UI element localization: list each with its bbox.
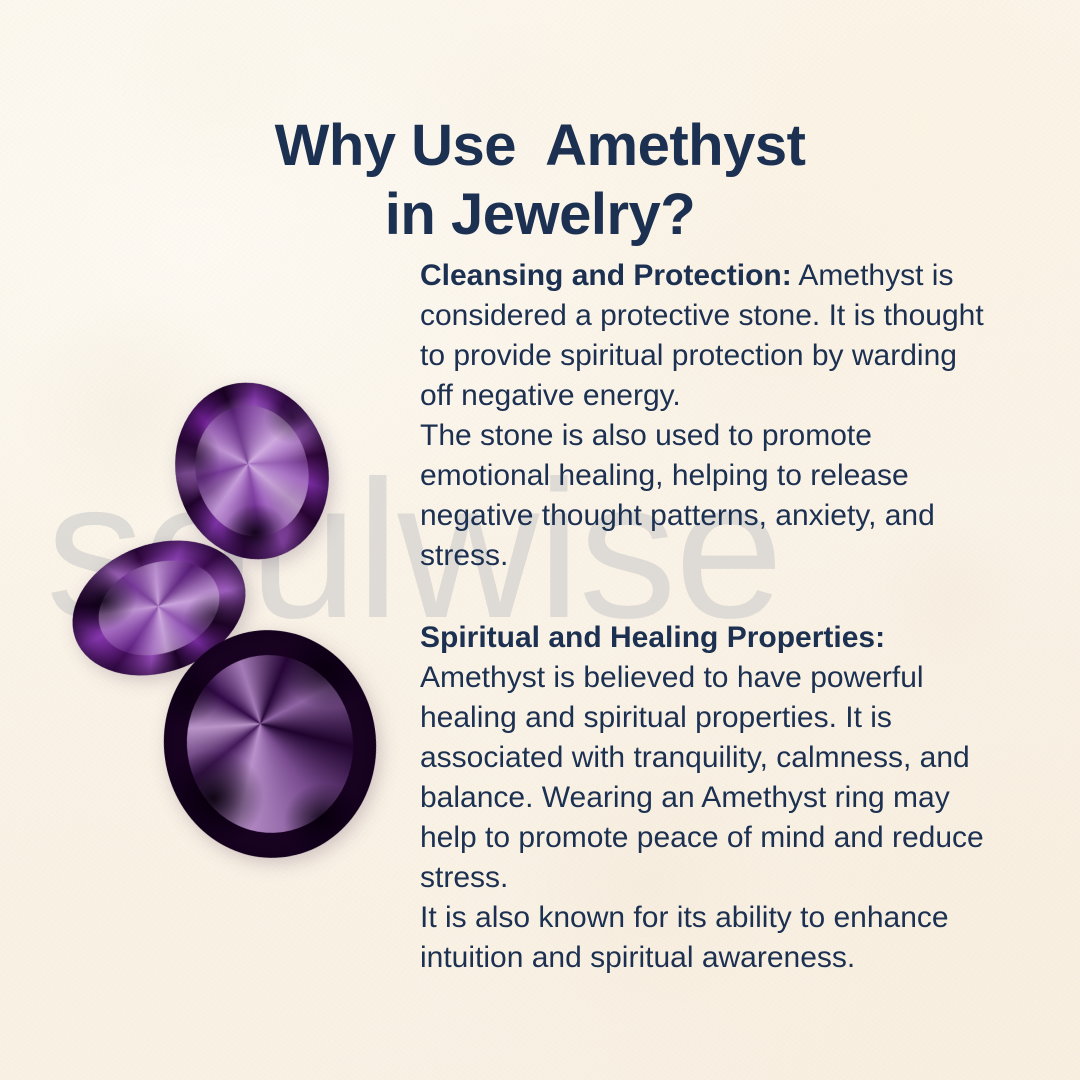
section-paragraph-secondary: It is also known for its ability to enha… — [420, 898, 992, 978]
page-title-line-1: Why Use Amethyst — [0, 111, 1080, 181]
section-paragraph-secondary: The stone is also used to promote emotio… — [420, 416, 992, 576]
body-copy: Cleansing and Protection: Amethyst is co… — [420, 256, 992, 978]
section-lead-label: Spiritual and Healing Properties: — [420, 621, 885, 654]
section-spiritual-and-healing-properties: Spiritual and Healing Properties: Amethy… — [420, 618, 992, 978]
page-title-line-2: in Jewelry? — [0, 180, 1080, 250]
poster-canvas: soulwise Why Use Amethyst in Jewelry? Cl… — [0, 0, 1080, 1080]
section-cleansing-and-protection: Cleansing and Protection: Amethyst is co… — [420, 256, 992, 576]
section-paragraph: Spiritual and Healing Properties: — [420, 618, 992, 658]
page-title: Why Use Amethyst in Jewelry? — [0, 111, 1080, 250]
amethyst-gem-cluster — [58, 378, 388, 868]
section-paragraph: Cleansing and Protection: Amethyst is co… — [420, 256, 992, 416]
section-body-text: Amethyst is believed to have powerful he… — [420, 658, 992, 898]
section-lead-label: Cleansing and Protection: — [420, 259, 792, 292]
